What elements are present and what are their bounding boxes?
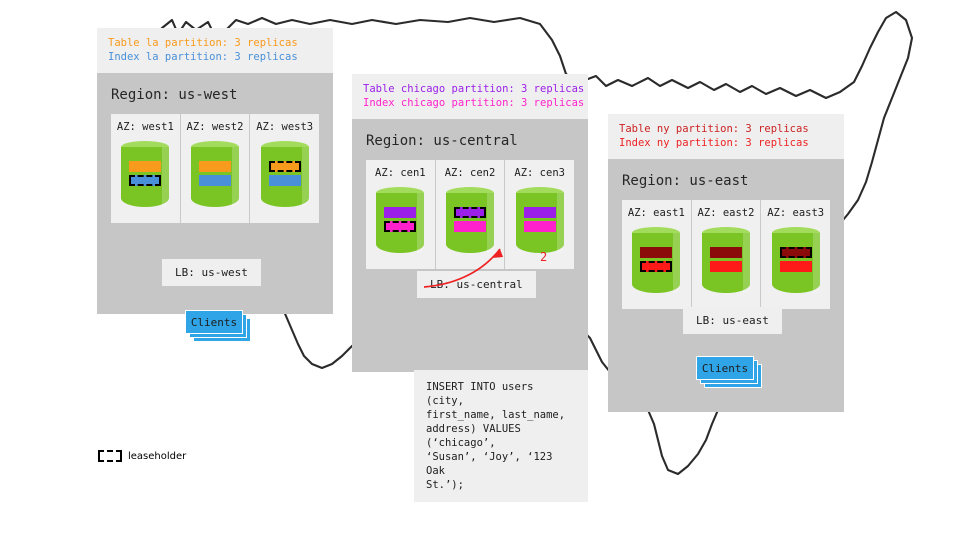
node-cylinder-west2[interactable]	[191, 141, 239, 213]
az-east1[interactable]: AZ: east1	[622, 200, 692, 309]
replica-band-index	[780, 261, 812, 272]
replica-band-table-leaseholder	[780, 247, 812, 258]
replica-bands	[446, 207, 494, 232]
clients-label[interactable]: Clients	[696, 356, 754, 380]
az-west3[interactable]: AZ: west3	[250, 114, 319, 223]
az-label: AZ: east1	[628, 207, 685, 219]
node-cylinder-west1[interactable]	[121, 141, 169, 213]
replica-band-table	[199, 161, 231, 172]
replica-band-table	[384, 207, 416, 218]
replica-band-table-leaseholder	[454, 207, 486, 218]
replica-band-table-leaseholder	[269, 161, 301, 172]
az-west1[interactable]: AZ: west1	[111, 114, 181, 223]
replica-band-table	[524, 207, 556, 218]
az-label: AZ: west3	[256, 121, 313, 133]
replica-band-index	[199, 175, 231, 186]
annotation-label-2: 2	[540, 250, 547, 264]
az-cen1[interactable]: AZ: cen1	[366, 160, 436, 269]
region-panel-us-central: Table chicago partition: 3 replicas Inde…	[352, 74, 588, 372]
node-cylinder-cen1[interactable]	[376, 187, 424, 259]
replica-band-table	[710, 247, 742, 258]
region-title: Region: us-east	[608, 159, 844, 200]
replication-line-index: Index ny partition: 3 replicas	[619, 137, 833, 151]
replication-line-table: Table chicago partition: 3 replicas	[363, 83, 577, 97]
replica-bands	[121, 161, 169, 186]
dashed-rect-icon	[98, 450, 122, 462]
az-label: AZ: west1	[117, 121, 174, 133]
az-west2[interactable]: AZ: west2	[181, 114, 251, 223]
replication-line-index: Index chicago partition: 3 replicas	[363, 97, 577, 111]
replica-band-index-leaseholder	[384, 221, 416, 232]
legend-leaseholder: leaseholder	[98, 450, 186, 462]
az-label: AZ: cen1	[375, 167, 426, 179]
replica-band-index	[454, 221, 486, 232]
load-balancer-us-west[interactable]: LB: us-west	[162, 259, 261, 286]
clients-button-us-west[interactable]: Clients	[185, 310, 247, 336]
replica-band-table	[129, 161, 161, 172]
az-east2[interactable]: AZ: east2	[692, 200, 762, 309]
replica-bands	[632, 247, 680, 272]
az-row-us-west: AZ: west1 AZ: west2	[111, 114, 319, 223]
replication-line-table: Table ny partition: 3 replicas	[619, 123, 833, 137]
replica-bands	[261, 161, 309, 186]
replica-bands	[191, 161, 239, 186]
az-label: AZ: cen2	[445, 167, 496, 179]
node-cylinder-east3[interactable]	[772, 227, 820, 299]
node-cylinder-west3[interactable]	[261, 141, 309, 213]
replica-bands	[376, 207, 424, 232]
replica-bands	[772, 247, 820, 272]
replication-line-table: Table la partition: 3 replicas	[108, 37, 322, 51]
replication-header-us-central: Table chicago partition: 3 replicas Inde…	[352, 74, 588, 119]
replica-band-index-leaseholder	[640, 261, 672, 272]
replica-bands	[516, 207, 564, 232]
az-row-us-east: AZ: east1 AZ: east2	[622, 200, 830, 309]
node-cylinder-cen2[interactable]	[446, 187, 494, 259]
clients-button-us-east[interactable]: Clients	[696, 356, 758, 382]
diagram-canvas: Table la partition: 3 replicas Index la …	[0, 0, 960, 540]
region-panel-us-west: Table la partition: 3 replicas Index la …	[97, 28, 333, 314]
replication-header-us-west: Table la partition: 3 replicas Index la …	[97, 28, 333, 73]
node-cylinder-cen3[interactable]	[516, 187, 564, 259]
replica-band-index	[524, 221, 556, 232]
az-label: AZ: west2	[187, 121, 244, 133]
load-balancer-us-central[interactable]: LB: us-central	[417, 271, 536, 298]
az-cen2[interactable]: AZ: cen2	[436, 160, 506, 269]
node-cylinder-east1[interactable]	[632, 227, 680, 299]
replica-band-index	[710, 261, 742, 272]
legend-label: leaseholder	[128, 451, 186, 462]
region-title: Region: us-central	[352, 119, 588, 160]
replica-bands	[702, 247, 750, 272]
replica-band-index	[269, 175, 301, 186]
region-title: Region: us-west	[97, 73, 333, 114]
az-label: AZ: east3	[767, 207, 824, 219]
node-cylinder-east2[interactable]	[702, 227, 750, 299]
region-body-us-central: Region: us-central AZ: cen1 AZ: cen2	[352, 119, 588, 372]
replication-line-index: Index la partition: 3 replicas	[108, 51, 322, 65]
az-east3[interactable]: AZ: east3	[761, 200, 830, 309]
replication-header-us-east: Table ny partition: 3 replicas Index ny …	[608, 114, 844, 159]
load-balancer-us-east[interactable]: LB: us-east	[683, 307, 782, 334]
sql-insert-note: INSERT INTO users (city, first_name, las…	[414, 370, 588, 502]
az-label: AZ: east2	[698, 207, 755, 219]
az-label: AZ: cen3	[514, 167, 565, 179]
region-panel-us-east: Table ny partition: 3 replicas Index ny …	[608, 114, 844, 412]
replica-band-index-leaseholder	[129, 175, 161, 186]
replica-band-table	[640, 247, 672, 258]
clients-label[interactable]: Clients	[185, 310, 243, 334]
